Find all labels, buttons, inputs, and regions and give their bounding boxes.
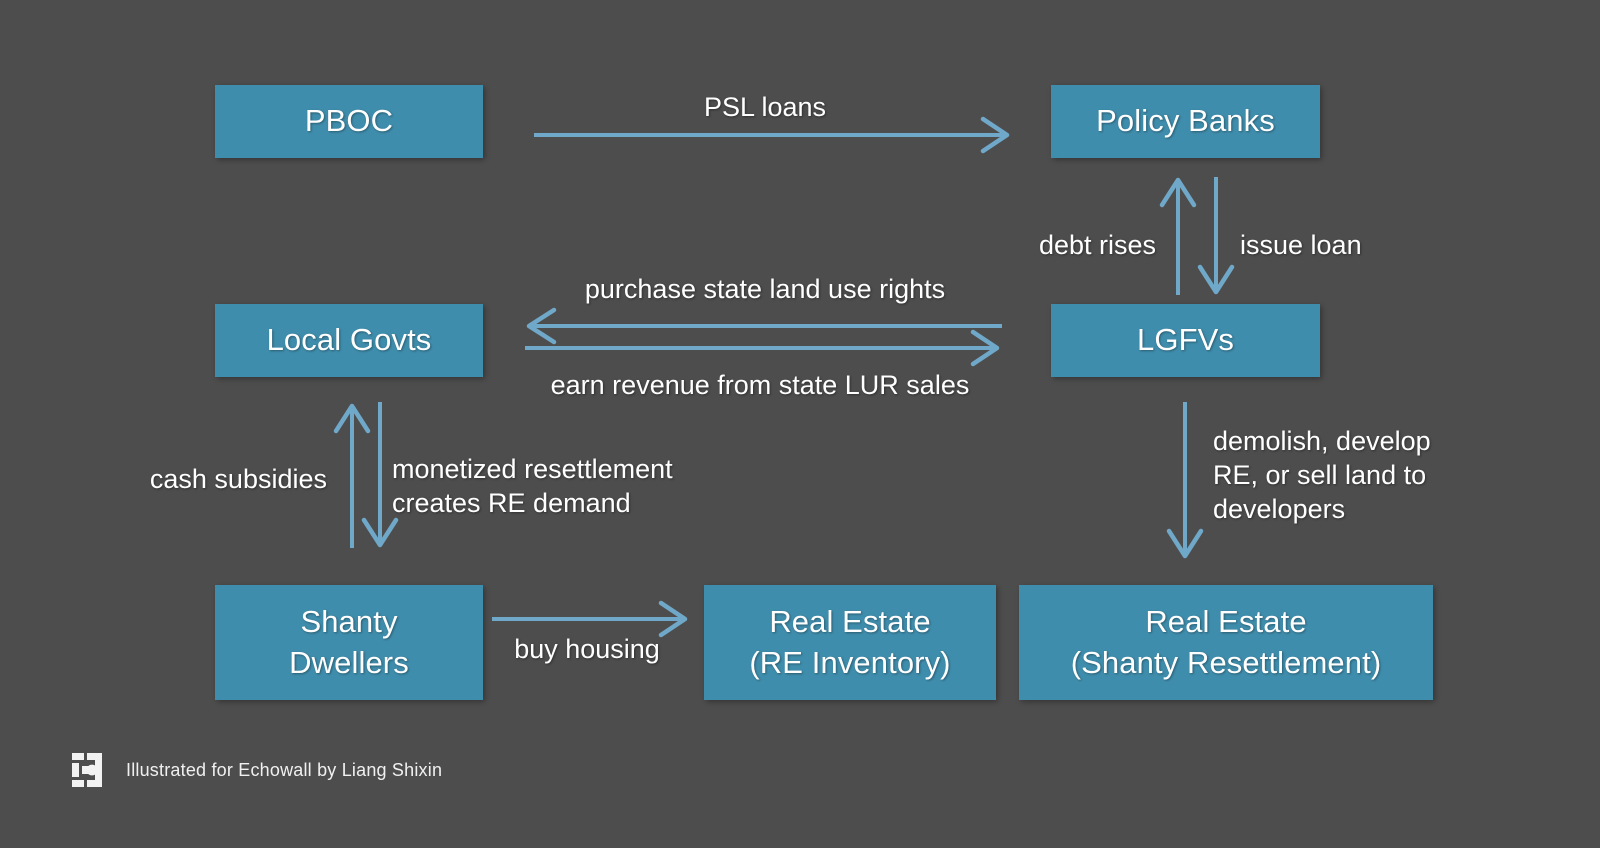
arrow-purchase-lur — [529, 310, 1002, 342]
node-re-inventory[interactable]: Real Estate (RE Inventory) — [704, 585, 996, 700]
edge-label-earn-revenue: earn revenue from state LUR sales — [490, 368, 1030, 402]
arrow-cash-subsidies — [336, 406, 368, 548]
node-pboc-label: PBOC — [305, 101, 393, 142]
arrow-earn-revenue — [525, 332, 997, 364]
node-re-inventory-label: Real Estate (RE Inventory) — [749, 602, 950, 684]
node-lgfvs[interactable]: LGFVs — [1051, 304, 1320, 377]
node-shanty-dwellers-label: Shanty Dwellers — [289, 602, 409, 684]
arrow-demolish-develop — [1169, 402, 1201, 556]
diagram-canvas: .ln { stroke: #6fa8c8; stroke-width: 4; … — [0, 0, 1600, 848]
edge-label-issue-loan: issue loan — [1240, 228, 1540, 262]
arrow-buy-housing — [492, 603, 685, 635]
node-local-govts[interactable]: Local Govts — [215, 304, 483, 377]
credit-text: Illustrated for Echowall by Liang Shixin — [126, 760, 442, 781]
node-re-shanty-resettlement[interactable]: Real Estate (Shanty Resettlement) — [1019, 585, 1433, 700]
arrow-debt-rises — [1162, 180, 1194, 295]
node-shanty-dwellers[interactable]: Shanty Dwellers — [215, 585, 483, 700]
edge-label-cash-subsidies: cash subsidies — [60, 462, 327, 496]
edge-label-purchase-lur: purchase state land use rights — [505, 272, 1025, 306]
edge-label-psl-loans: PSL loans — [610, 90, 920, 124]
credit-block: Illustrated for Echowall by Liang Shixin — [70, 748, 442, 792]
node-pboc[interactable]: PBOC — [215, 85, 483, 158]
echowall-logo-icon — [70, 748, 114, 792]
edge-label-debt-rises: debt rises — [800, 228, 1156, 262]
node-re-shanty-resettlement-label: Real Estate (Shanty Resettlement) — [1071, 602, 1382, 684]
node-policy-banks-label: Policy Banks — [1096, 101, 1275, 142]
arrow-issue-loan — [1200, 177, 1232, 292]
edge-label-demolish-develop: demolish, develop RE, or sell land to de… — [1213, 424, 1513, 526]
edge-label-monetized-resettlement: monetized resettlement creates RE demand — [392, 452, 812, 520]
edge-label-buy-housing: buy housing — [472, 632, 702, 666]
node-local-govts-label: Local Govts — [267, 320, 432, 361]
node-lgfvs-label: LGFVs — [1137, 320, 1234, 361]
node-policy-banks[interactable]: Policy Banks — [1051, 85, 1320, 158]
